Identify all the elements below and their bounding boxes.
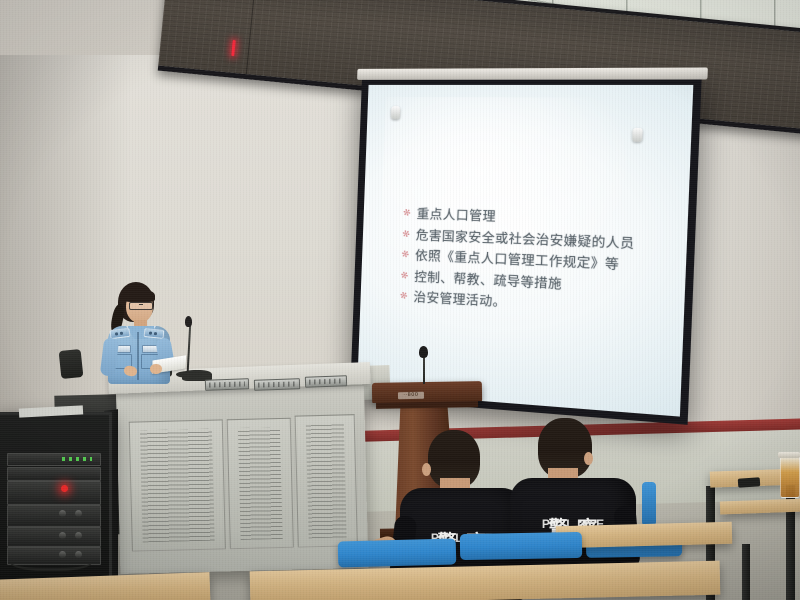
console-panel-left [129,419,226,551]
power-led-indicator [61,485,68,492]
vent-grille [238,427,283,540]
rack-device-1 [205,378,249,391]
bullet-marker-icon: ✻ [400,226,411,243]
tea-glass-lid [778,452,800,458]
presenter-police-officer [100,282,186,382]
screen-clip-right [632,128,643,142]
status-led-strip [62,457,92,461]
classroom-photo: ✻ 重点人口管理 ✻ 危害国家安全或社会治安嫌疑的人员 ✻ 依照《重点人口管理工… [0,0,800,600]
slide-bullet-text: 控制、帮教、疏导等措施 [414,269,562,292]
chair-back-middle[interactable] [460,532,582,560]
bullet-marker-icon: ✻ [400,247,411,264]
rack-device-2 [254,378,300,391]
mobile-phone[interactable] [738,477,761,488]
hair-fringe [124,289,155,302]
side-desk-lower [720,499,800,515]
vent-grille [306,423,347,538]
rack-unit [7,481,101,505]
rack-device-3 [305,375,347,387]
microphone-icon [185,316,192,327]
console-panel-mid [227,418,294,550]
console-panel-right [295,414,358,547]
bullet-marker-icon: ✻ [398,288,409,305]
rack-unit [7,527,101,547]
slide-bullet-text: 重点人口管理 [416,206,496,224]
bullet-marker-icon: ✻ [401,205,412,222]
rack-unit [7,467,101,481]
rack-knob[interactable] [75,510,82,517]
podium-microphone-icon [419,346,428,358]
ear [584,452,593,465]
vent-grille [140,429,215,543]
av-equipment-rack [0,412,112,584]
hand-right [150,364,162,374]
podium-top [372,381,482,403]
chair-back-left[interactable] [338,538,457,567]
ear [422,463,431,476]
device-slots [209,381,245,387]
paper-on-rack [19,405,83,417]
bullet-marker-icon: ✻ [399,267,410,284]
desk-leg [742,544,750,600]
podium-nameplate: ··800 [398,392,424,399]
slide-content: ✻ 重点人口管理 ✻ 危害国家安全或社会治安嫌疑的人员 ✻ 依照《重点人口管理工… [399,206,684,326]
eyeglasses-icon [129,302,153,310]
rack-knob[interactable] [59,510,66,517]
rack-unit [7,453,101,466]
slide-bullet-text: 依照《重点人口管理工作规定》等 [415,248,620,272]
shirt-placket [137,332,139,380]
rack-knob[interactable] [75,532,82,539]
middle-row-desk [556,522,733,549]
rack-unit [7,505,101,527]
tea-glass [780,456,800,498]
projection-screen-frame: ✻ 重点人口管理 ✻ 危害国家安全或社会治安嫌疑的人员 ✻ 依照《重点人口管理工… [350,77,702,424]
device-slots [258,381,296,387]
device-slots [309,378,343,384]
slide-bullet-text: 危害国家安全或社会治安嫌疑的人员 [416,227,635,251]
screen-clip-left [391,107,400,120]
slide-bullet-1: ✻ 重点人口管理 [403,206,685,231]
wall-speaker [59,349,84,379]
projection-screen: ✻ 重点人口管理 ✻ 危害国家安全或社会治安嫌疑的人员 ✻ 依照《重点人口管理工… [357,85,693,417]
slide-bullet-text: 治安管理活动。 [413,289,506,309]
control-console-cabinet [116,386,368,574]
cable-bundle [9,546,93,571]
rack-knob[interactable] [59,532,66,539]
